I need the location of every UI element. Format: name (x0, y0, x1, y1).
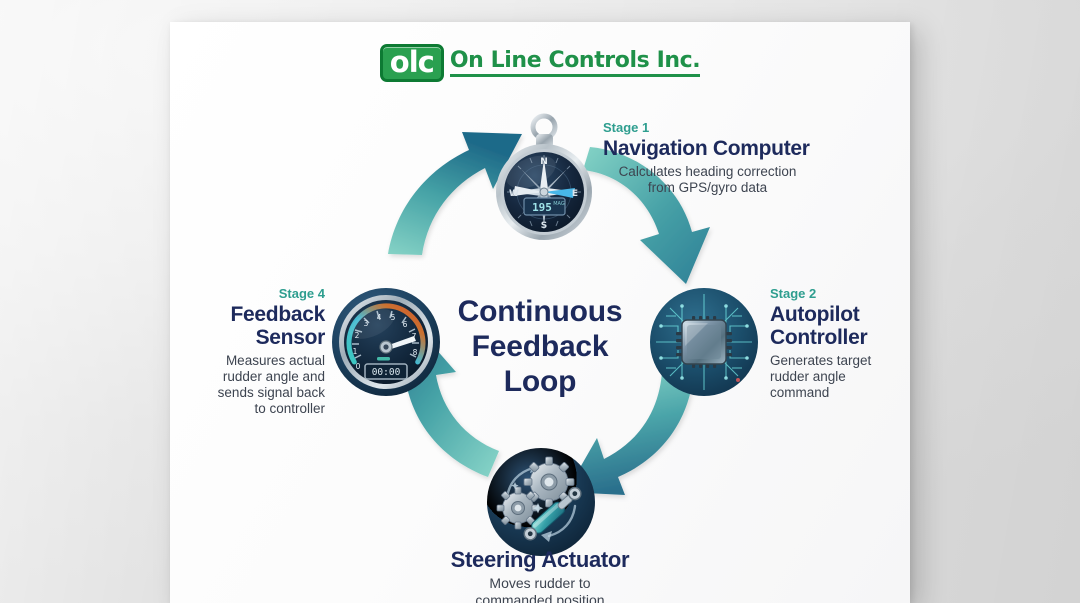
stage-2-label: Stage 2 (770, 286, 900, 302)
stage-4-title-line1: Feedback (170, 303, 325, 326)
stage-4-title-line2: Sensor (170, 326, 325, 349)
stage-1-title: Navigation Computer (603, 137, 818, 160)
stage-4-desc-line1: Measures actual (170, 353, 325, 369)
stage-1-desc-line1: Calculates heading correction (597, 164, 818, 180)
stage-4-desc-line3: sends signal back (170, 385, 325, 401)
stage-4-description: Measures actual rudder angle and sends s… (170, 353, 325, 417)
stage-1-text-block: Stage 1 Navigation Computer Calculates h… (603, 120, 818, 196)
compass-mark-e: E (572, 189, 578, 199)
stage-2-desc-line1: Generates target (770, 353, 900, 369)
stage-2-title: Autopilot Controller (770, 303, 900, 349)
stage-2-description: Generates target rudder angle command (770, 353, 900, 401)
stage-3-title: Steering Actuator (280, 548, 800, 571)
gears-actuator-icon (485, 446, 597, 558)
microchip-icon (648, 286, 760, 398)
compass-heading-readout: 195 (532, 201, 552, 214)
page-title: Continuous Feedback Loop (425, 294, 655, 399)
svg-text:8: 8 (413, 348, 418, 357)
compass-icon: N S E W 195 MAG (487, 110, 602, 245)
compass-heading-unit: MAG (553, 201, 565, 207)
stage-2-text-block: Stage 2 Autopilot Controller Generates t… (770, 286, 900, 401)
compass-mark-s: S (541, 221, 547, 231)
stage-2-title-line2: Controller (770, 326, 900, 349)
svg-text:6: 6 (403, 320, 408, 329)
svg-text:0: 0 (356, 362, 361, 371)
stage-3-description: Moves rudder to commanded position (280, 575, 800, 603)
stage-3-desc-line2: commanded position (280, 592, 800, 603)
stage-2-desc-line2: rudder angle (770, 369, 900, 385)
stage-4-title: Feedback Sensor (170, 303, 325, 349)
stage-4-desc-line4: to controller (170, 401, 325, 417)
stage-1-label: Stage 1 (603, 120, 818, 136)
center-title-line2: Feedback (425, 329, 655, 364)
stage-1-desc-line2: from GPS/gyro data (597, 180, 818, 196)
center-title-line3: Loop (425, 364, 655, 399)
stage-2-desc-line3: command (770, 385, 900, 401)
poster-page: olc On Line Controls Inc. (170, 22, 910, 603)
compass-mark-w: W (509, 189, 519, 199)
stage-4-text-block: Stage 4 Feedback Sensor Measures actual … (170, 286, 325, 417)
gauge-digital-readout: 00:00 (372, 367, 401, 378)
center-title-line1: Continuous (425, 294, 655, 329)
stage-4-label: Stage 4 (170, 286, 325, 302)
svg-text:1: 1 (353, 347, 358, 356)
stage-2-title-line1: Autopilot (770, 303, 900, 326)
stage-1-description: Calculates heading correction from GPS/g… (597, 164, 818, 196)
stage-3-text-block: Steering Actuator Moves rudder to comman… (280, 548, 800, 603)
stage-3-desc-line1: Moves rudder to (280, 575, 800, 592)
stage-4-desc-line2: rudder angle and (170, 369, 325, 385)
